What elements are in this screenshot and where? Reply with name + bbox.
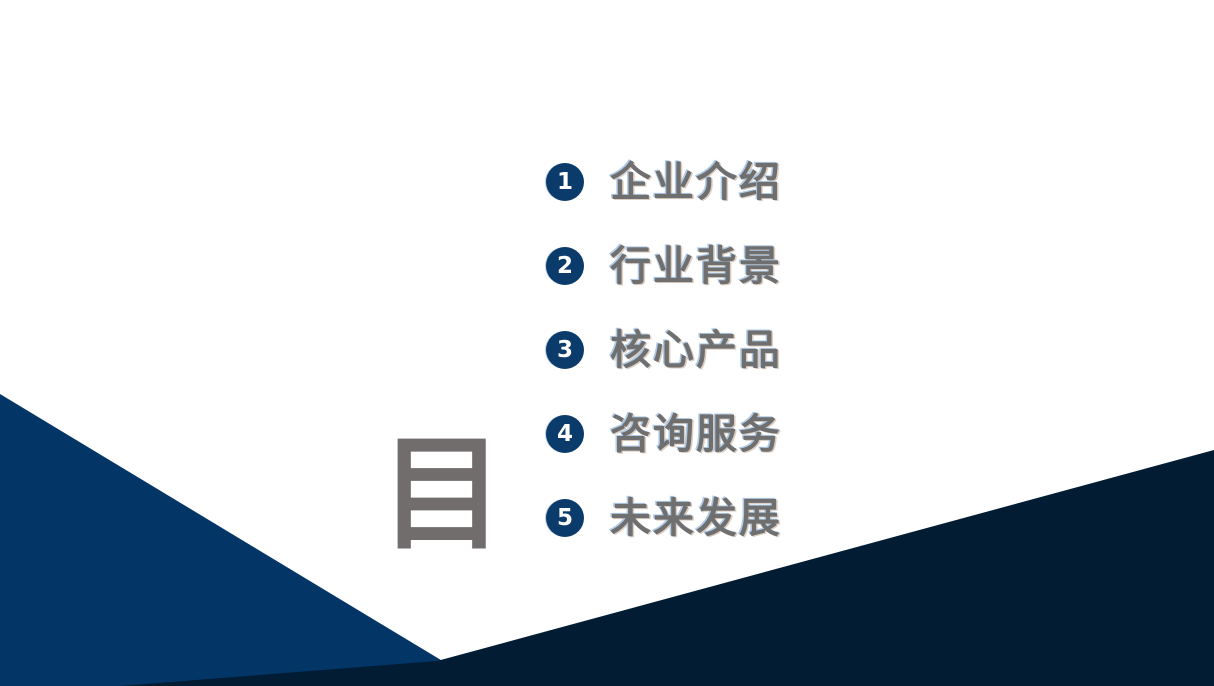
list-item-number-badge: 5 <box>546 499 584 537</box>
list-item-label: 未来发展 <box>610 495 782 541</box>
list-item[interactable]: 4 咨询服务 <box>546 392 886 476</box>
page-title: 目 录 <box>372 200 512 686</box>
list-item-label: 咨询服务 <box>610 411 782 457</box>
list-item-number-badge: 2 <box>546 247 584 285</box>
list-item[interactable]: 5 未来发展 <box>546 476 886 560</box>
list-item-label: 核心产品 <box>610 327 782 373</box>
list-item[interactable]: 1 企业介绍 <box>546 140 886 224</box>
list-item-number-badge: 4 <box>546 415 584 453</box>
list-item[interactable]: 3 核心产品 <box>546 308 886 392</box>
slide-canvas: 目 录 1 企业介绍 2 行业背景 3 核心产品 4 咨询服务 5 未来发展 <box>0 0 1214 686</box>
page-title-char-1: 目 <box>372 436 512 554</box>
list-item[interactable]: 2 行业背景 <box>546 224 886 308</box>
list-item-number-badge: 3 <box>546 331 584 369</box>
list-item-number-badge: 1 <box>546 163 584 201</box>
list-item-label: 企业介绍 <box>610 159 782 205</box>
contents-list: 1 企业介绍 2 行业背景 3 核心产品 4 咨询服务 5 未来发展 <box>546 140 886 560</box>
list-item-label: 行业背景 <box>610 243 782 289</box>
